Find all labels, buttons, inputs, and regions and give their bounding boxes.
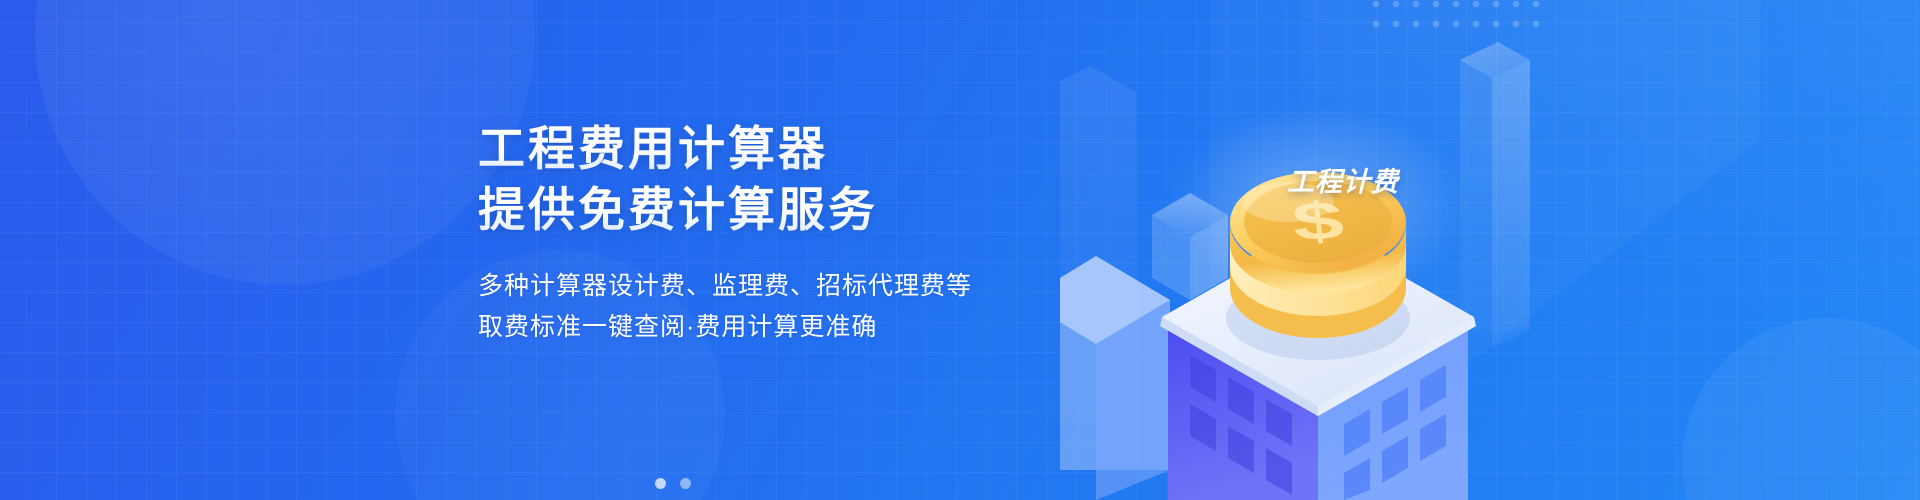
banner-headline-line-1: 工程费用计算器 [478,118,1118,179]
banner-copy-block: 工程费用计算器 提供免费计算服务 多种计算器设计费、监理费、招标代理费等 取费标… [478,118,1118,348]
small-cube-decoration [1152,193,1228,300]
banner-headline-line-2: 提供免费计算服务 [478,179,1118,240]
carousel-dot-1[interactable] [655,478,666,489]
coin-stack: $ [1226,172,1410,360]
decorative-circle-top-left [35,0,535,285]
banner-subtitle-line-1: 多种计算器设计费、监理费、招标代理费等 [478,266,1118,307]
isometric-illustration: $ 工程计费 [1060,0,1760,500]
midground-tower-slabs [1060,256,1170,500]
carousel-dot-2[interactable] [680,478,691,489]
illustration-label: 工程计费 [1287,160,1399,199]
illustration-svg: $ [1060,0,1760,500]
banner-subtitle-line-2: 取费标准一键查阅·费用计算更准确 [478,307,1118,348]
promo-banner: 工程费用计算器 提供免费计算服务 多种计算器设计费、监理费、招标代理费等 取费标… [0,0,1920,500]
banner-subtitle-block: 多种计算器设计费、监理费、招标代理费等 取费标准一键查阅·费用计算更准确 [478,266,1118,348]
carousel-pagination[interactable] [655,478,691,489]
